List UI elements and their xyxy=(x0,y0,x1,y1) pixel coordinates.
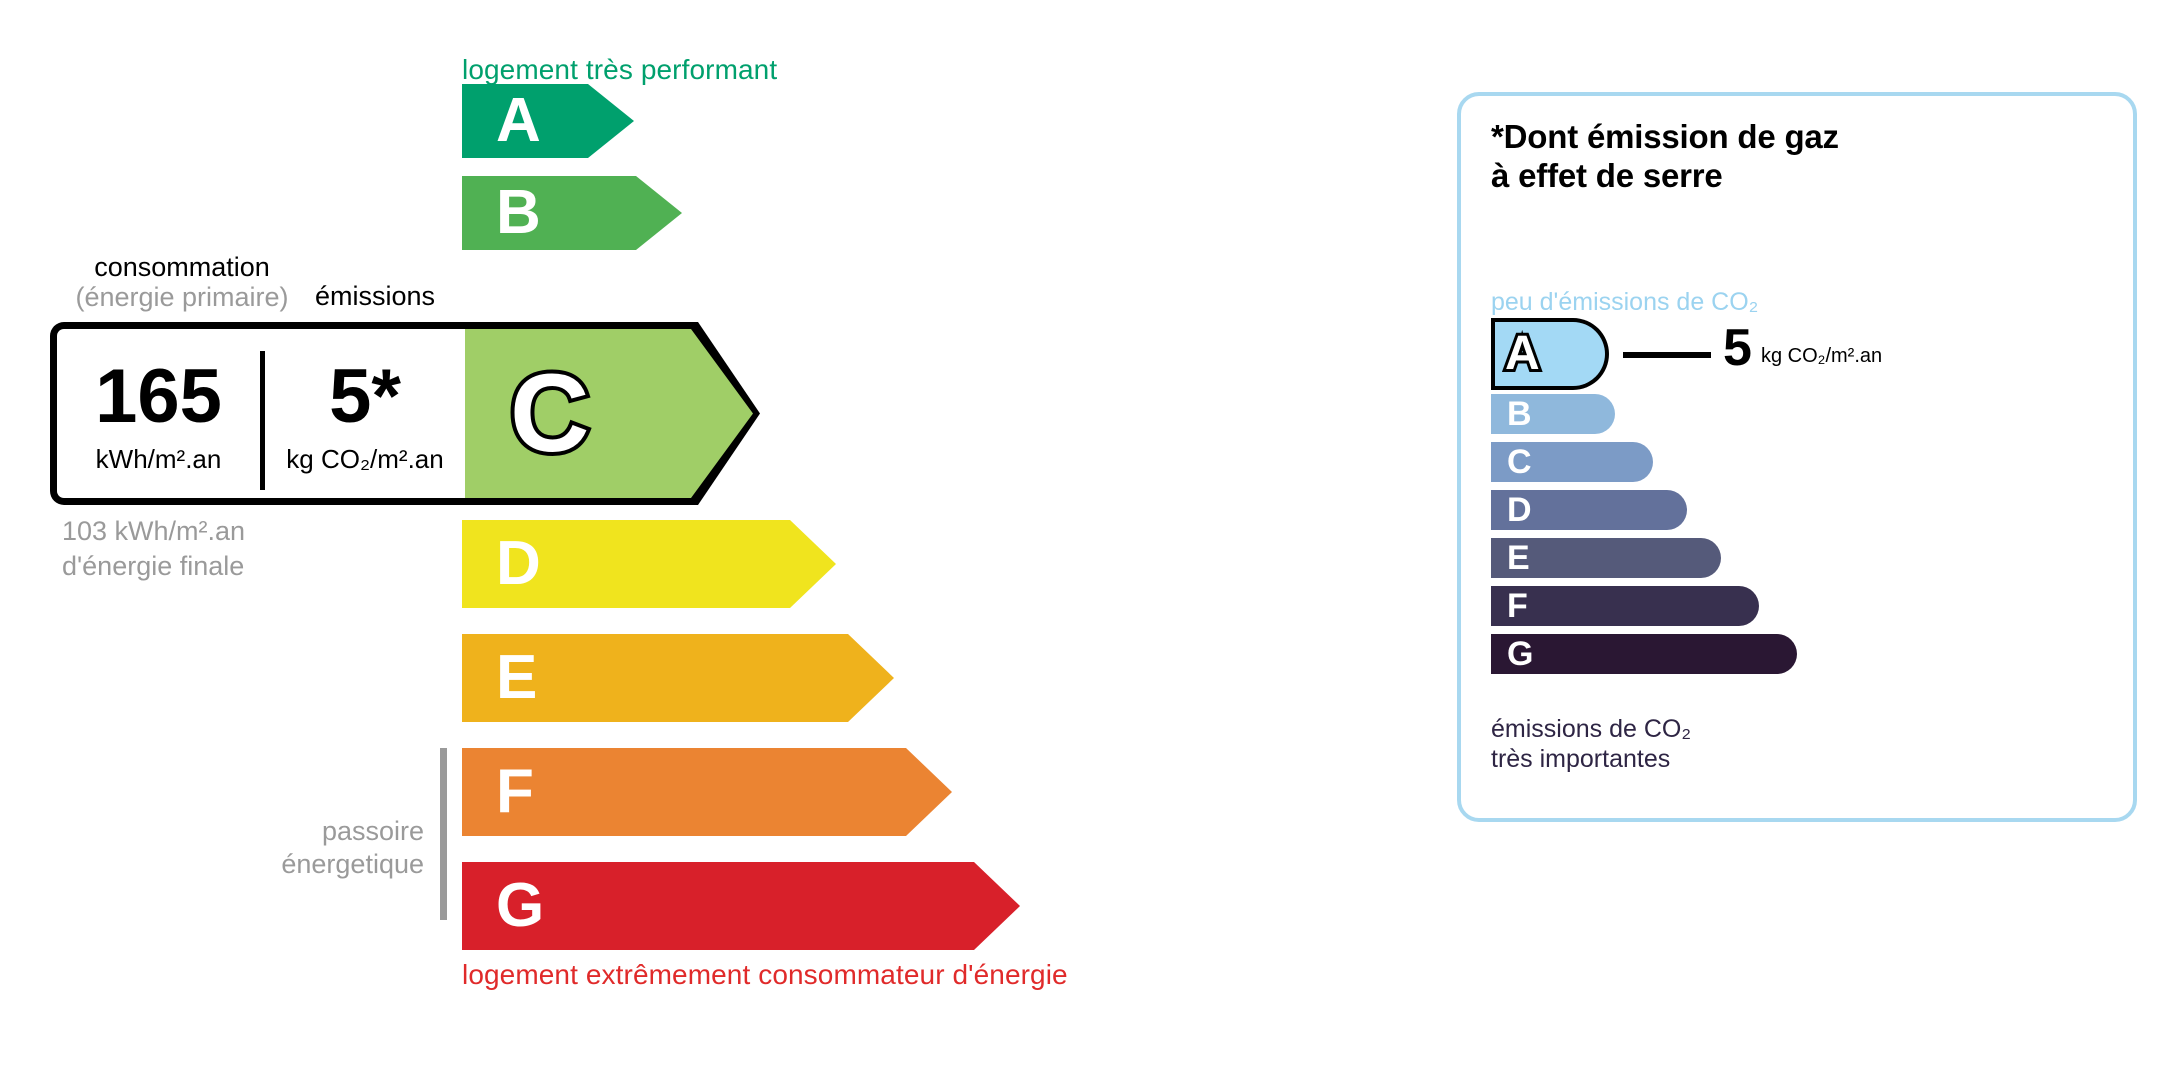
ges-bar-c: C xyxy=(1491,442,1653,482)
ges-highlight-letter: A xyxy=(1505,322,1540,386)
ges-connector-line xyxy=(1623,352,1711,358)
energy-band-letter: C xyxy=(510,359,589,469)
energy-unit: kWh/m².an xyxy=(57,446,260,472)
passoire-marker-bar xyxy=(440,748,447,920)
ges-bar-f: F xyxy=(1491,586,1759,626)
energy-band-d: D xyxy=(462,520,836,608)
ges-panel-title: *Dont émission de gaz à effet de serre xyxy=(1491,118,1839,196)
ges-bar-letter: C xyxy=(1507,445,1532,479)
consumption-label-main: consommation xyxy=(94,252,270,282)
energy-performance-scale: logement très performant ABCDEFG 165 kWh… xyxy=(0,0,1400,1079)
energy-band-shape xyxy=(462,84,634,158)
energy-band-a: A xyxy=(462,84,634,158)
energy-value: 165 xyxy=(57,359,260,435)
energy-band-letter: D xyxy=(496,533,541,595)
energy-band-shape xyxy=(462,862,1020,950)
energy-band-letter: B xyxy=(496,182,541,244)
emissions-label: émissions xyxy=(300,281,450,311)
ges-bar-shape xyxy=(1491,634,1797,674)
ges-bottom-caption: émissions de CO₂ très importantes xyxy=(1491,714,1691,774)
ges-top-caption: peu d'émissions de CO₂ xyxy=(1491,288,1758,317)
energy-band-letter: E xyxy=(496,647,537,709)
dpe-diagram: logement très performant ABCDEFG 165 kWh… xyxy=(0,0,2169,1079)
energy-band-letter: G xyxy=(496,875,544,937)
ges-bar-letter: D xyxy=(1507,493,1532,527)
energy-band-g: G xyxy=(462,862,1020,950)
ges-bar-shape xyxy=(1491,586,1759,626)
consumption-label: consommation (énergie primaire) xyxy=(62,252,302,312)
ges-value-unit: kg CO₂/m².an xyxy=(1761,346,1882,366)
energy-band-f: F xyxy=(462,748,952,836)
ges-value: 5 xyxy=(1723,322,1752,374)
scale-bottom-caption: logement extrêmement consommateur d'éner… xyxy=(462,959,1068,991)
ges-bar-letter: G xyxy=(1507,637,1533,671)
energy-band-letter: A xyxy=(496,90,541,152)
energy-band-c: C xyxy=(458,322,760,505)
scale-top-caption: logement très performant xyxy=(462,54,777,86)
final-energy-note: 103 kWh/m².an d'énergie finale xyxy=(62,514,245,584)
ges-bar-g: G xyxy=(1491,634,1797,674)
greenhouse-gas-panel: *Dont émission de gaz à effet de serre p… xyxy=(1457,92,2137,822)
ges-bar-letter: B xyxy=(1507,397,1532,431)
energy-value-cell: 165 kWh/m².an xyxy=(57,329,260,498)
ges-value-small: 5* xyxy=(265,359,465,435)
ges-bar-b: B xyxy=(1491,394,1615,434)
ges-bar-d: D xyxy=(1491,490,1687,530)
consumption-label-sub: (énergie primaire) xyxy=(75,282,288,312)
ges-bar-letter: F xyxy=(1507,589,1528,623)
energy-band-b: B xyxy=(462,176,682,250)
energy-band-shape xyxy=(462,748,952,836)
energy-band-e: E xyxy=(462,634,894,722)
energy-band-letter: F xyxy=(496,761,534,823)
ges-bar-e: E xyxy=(1491,538,1721,578)
ges-bar-letter: E xyxy=(1507,541,1530,575)
ges-unit-small: kg CO₂/m².an xyxy=(265,446,465,472)
energy-band-shape xyxy=(462,176,682,250)
passoire-label: passoire énergetique xyxy=(200,815,424,881)
ges-value-cell: 5* kg CO₂/m².an xyxy=(265,329,465,498)
value-box: 165 kWh/m².an 5* kg CO₂/m².an xyxy=(50,322,465,505)
